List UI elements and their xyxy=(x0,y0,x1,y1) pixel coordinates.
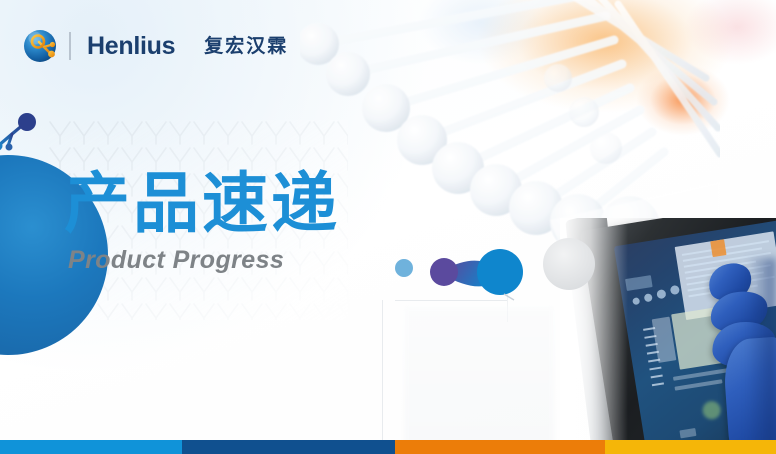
segment-light-blue xyxy=(0,440,182,454)
logo-divider xyxy=(69,32,71,60)
brand-name-cn: 复宏汉霖 xyxy=(204,37,288,56)
brand-header: Henlius 复宏汉霖 xyxy=(22,28,288,64)
glove-shadow xyxy=(746,258,776,454)
page-title: 产品速递 xyxy=(64,168,340,239)
segment-orange xyxy=(395,440,605,454)
segment-navy xyxy=(182,440,395,454)
henlius-molecule-logo-icon xyxy=(22,28,58,64)
decor-dot-light-blue xyxy=(395,259,413,277)
decor-mini-molecule-icon xyxy=(0,108,50,154)
presentation-slide: Henlius 复宏汉霖 产品速递 Product Progress xyxy=(0,0,776,454)
blurred-instrument xyxy=(404,306,554,446)
bottom-color-bar xyxy=(0,440,776,454)
panel-edge-vertical xyxy=(382,300,383,454)
segment-amber xyxy=(605,440,776,454)
page-subtitle: Product Progress xyxy=(68,246,340,275)
brand-name-en: Henlius xyxy=(87,34,175,59)
decor-gray-circle xyxy=(543,238,595,290)
title-block: 产品速递 Product Progress xyxy=(64,168,340,275)
